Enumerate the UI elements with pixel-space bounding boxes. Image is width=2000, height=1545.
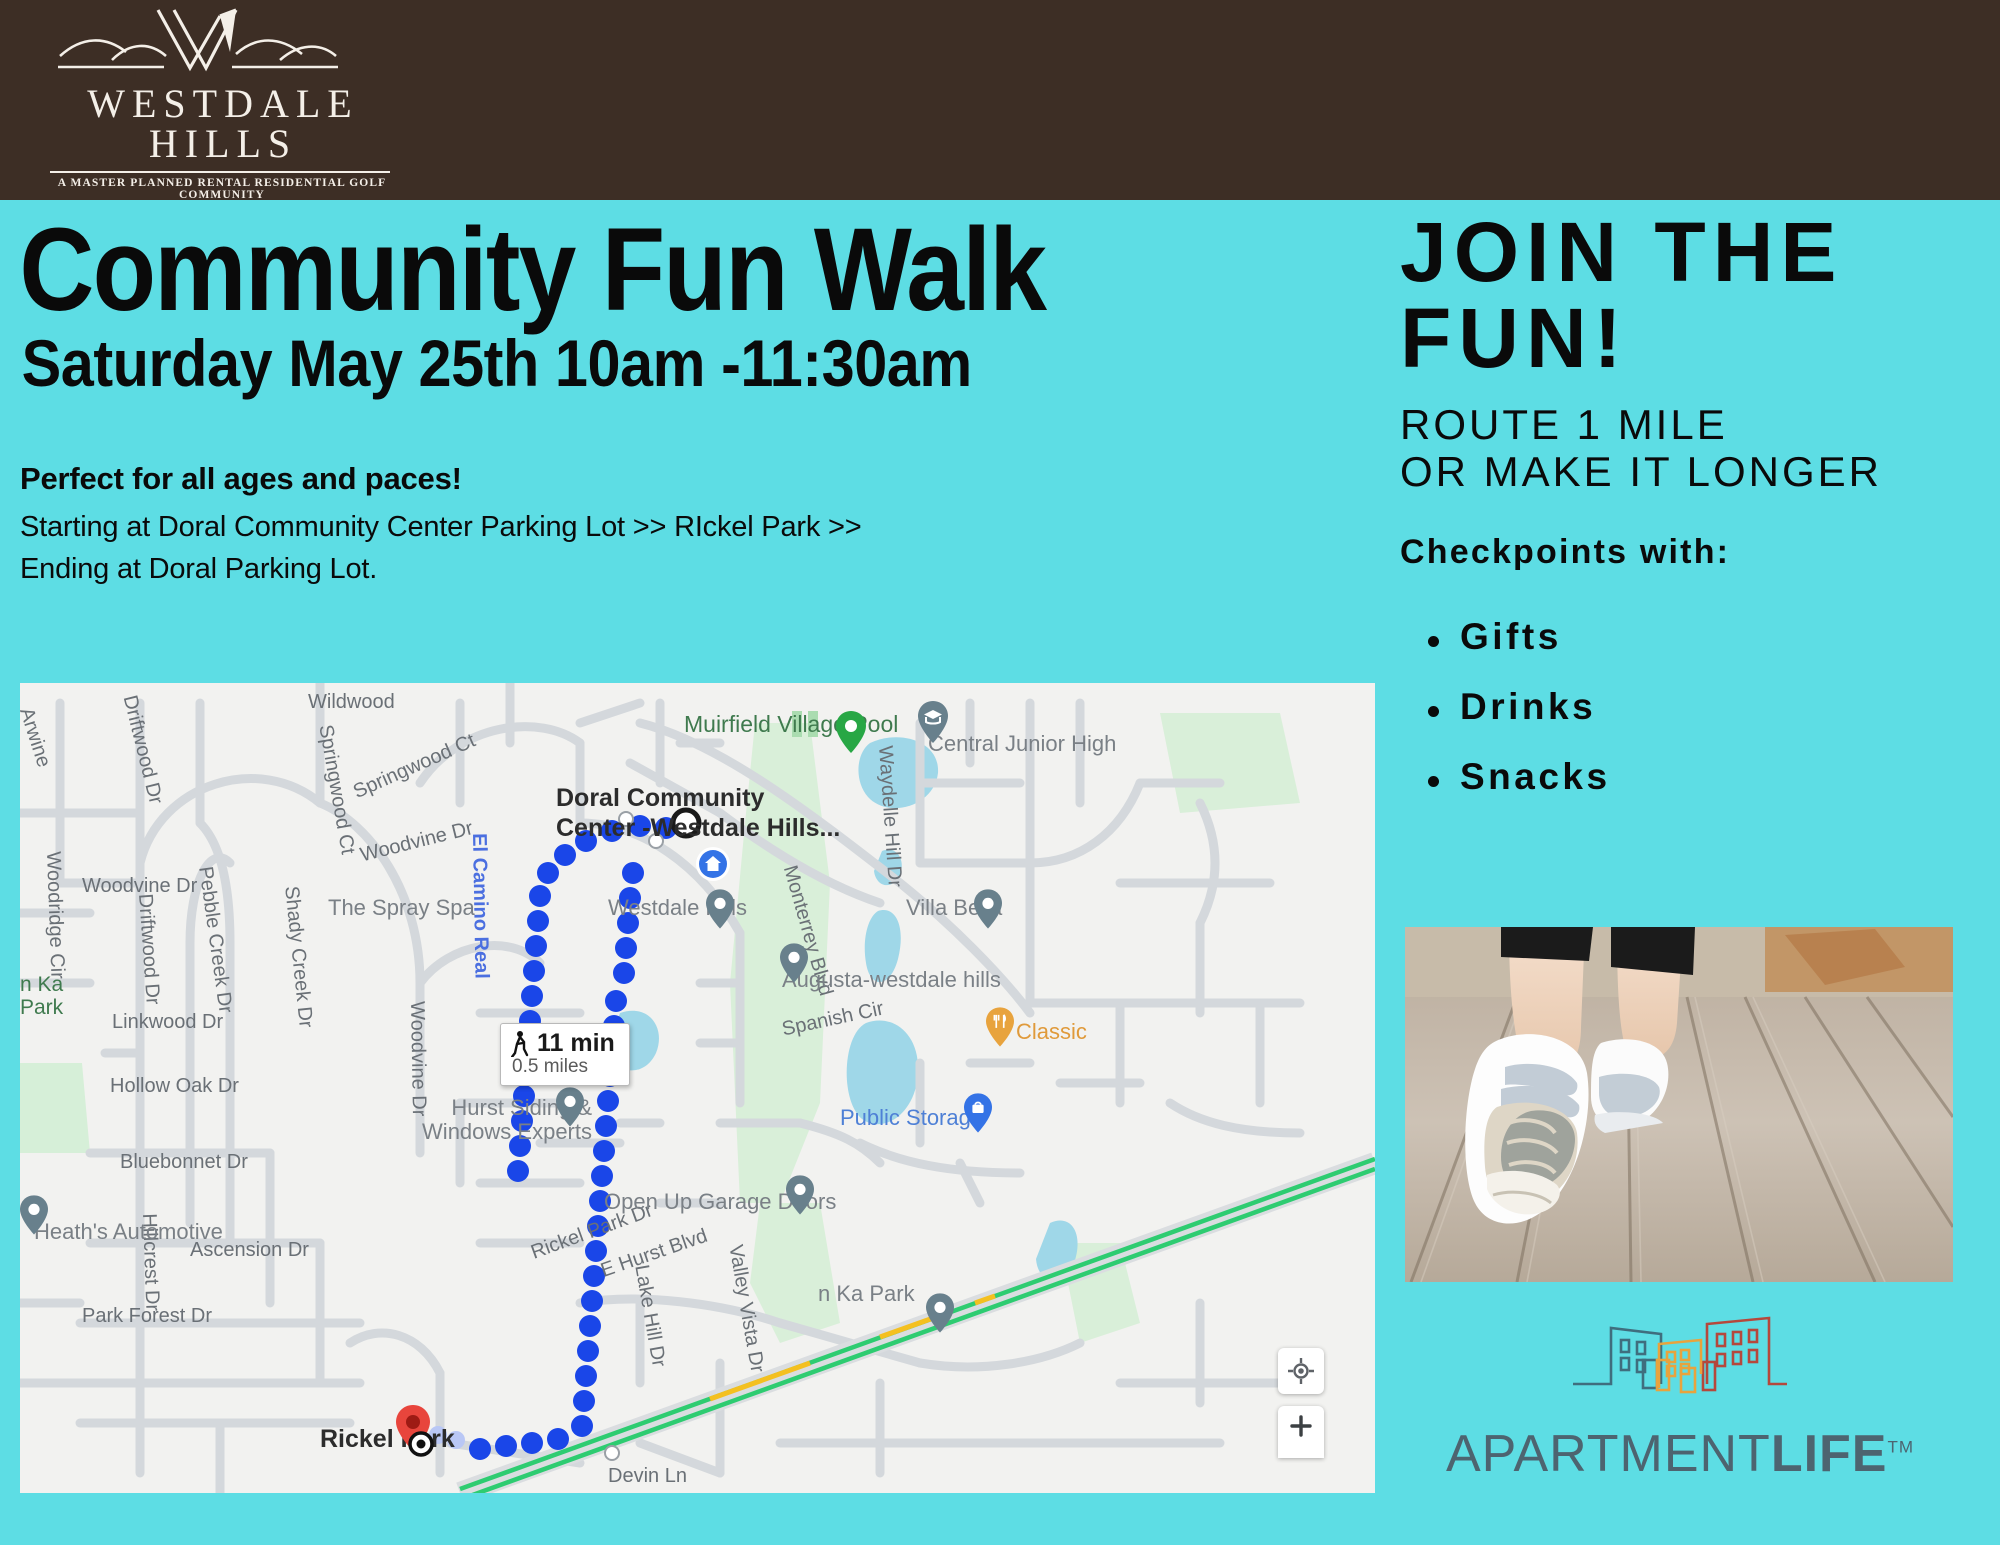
route-length-line-1: ROUTE 1 MILE	[1400, 381, 1980, 448]
checkpoints-heading: Checkpoints with:	[1400, 495, 1980, 572]
poi-pin-icon[interactable]	[786, 1175, 814, 1220]
apartment-life-buildings-icon	[1525, 1312, 1835, 1422]
route-distance: 0.5 miles	[512, 1056, 615, 1078]
poi-pin-icon[interactable]	[974, 889, 1002, 934]
westdale-hills-logo: WESTDALE HILLS A MASTER PLANNED RENTAL R…	[30, 6, 410, 200]
apartment-life-word-thin: APARTMENT	[1446, 1425, 1771, 1483]
logo-divider	[50, 171, 390, 173]
walking-person-icon	[511, 1031, 529, 1057]
event-details-column: Community Fun Walk Saturday May 25th 10a…	[0, 200, 1385, 589]
poi-pin-icon[interactable]	[926, 1293, 954, 1338]
zoom-in-button[interactable]	[1278, 1406, 1324, 1458]
destination-bullseye-icon	[408, 1431, 434, 1462]
logo-tagline: A MASTER PLANNED RENTAL RESIDENTIAL GOLF…	[30, 178, 410, 200]
crosshair-icon	[1288, 1358, 1314, 1384]
event-route-line-2: Ending at Doral Parking Lot.	[0, 547, 1385, 589]
join-heading-line-1: JOIN THE	[1400, 200, 1980, 296]
route-map[interactable]: Arwine Wildwood Driftwood Dr Springwood …	[20, 683, 1375, 1493]
poi-pin-icon[interactable]	[556, 1087, 584, 1132]
restaurant-pin-icon[interactable]	[986, 1007, 1014, 1052]
join-heading-line-2: FUN!	[1400, 296, 1980, 382]
walking-photo	[1405, 927, 1953, 1282]
poi-pin-icon[interactable]	[20, 1195, 48, 1240]
event-lead-text: Perfect for all ages and paces!	[0, 399, 1385, 497]
park-pin-icon[interactable]	[836, 711, 866, 758]
apartment-life-logo: APARTMENTLIFETM	[1430, 1312, 1930, 1480]
poi-pin-icon[interactable]	[706, 889, 734, 934]
plus-icon	[1289, 1414, 1313, 1438]
school-pin-icon[interactable]	[918, 701, 948, 748]
event-route-line-1: Starting at Doral Community Center Parki…	[0, 497, 1385, 547]
page-title: Community Fun Walk	[0, 200, 1219, 327]
list-item: Gifts	[1400, 616, 1980, 658]
route-duration: 11 min	[537, 1029, 615, 1058]
my-location-button[interactable]	[1278, 1348, 1324, 1394]
map-canvas	[20, 683, 1375, 1493]
trademark-mark: TM	[1888, 1438, 1915, 1457]
poi-pin-icon[interactable]	[780, 943, 808, 988]
route-length-line-2: OR MAKE IT LONGER	[1400, 448, 1980, 495]
cta-column: JOIN THE FUN! ROUTE 1 MILE OR MAKE IT LO…	[1400, 200, 1980, 798]
list-item: Drinks	[1400, 686, 1980, 728]
brand-header: WESTDALE HILLS A MASTER PLANNED RENTAL R…	[0, 0, 2000, 200]
apartment-life-word-bold: LIFE	[1771, 1425, 1888, 1483]
event-date-time: Saturday May 25th 10am -11:30am	[0, 327, 1247, 398]
route-duration-badge: 11 min 0.5 miles	[500, 1023, 630, 1086]
logo-monogram-hills-icon	[30, 6, 410, 82]
logo-wordmark: WESTDALE HILLS	[30, 84, 410, 164]
storage-pin-icon[interactable]	[964, 1093, 992, 1138]
checkpoints-list: Gifts Drinks Snacks	[1400, 572, 1980, 798]
home-marker-icon[interactable]	[696, 847, 730, 886]
list-item: Snacks	[1400, 756, 1980, 798]
apartment-life-wordmark: APARTMENTLIFETM	[1430, 1428, 1930, 1480]
